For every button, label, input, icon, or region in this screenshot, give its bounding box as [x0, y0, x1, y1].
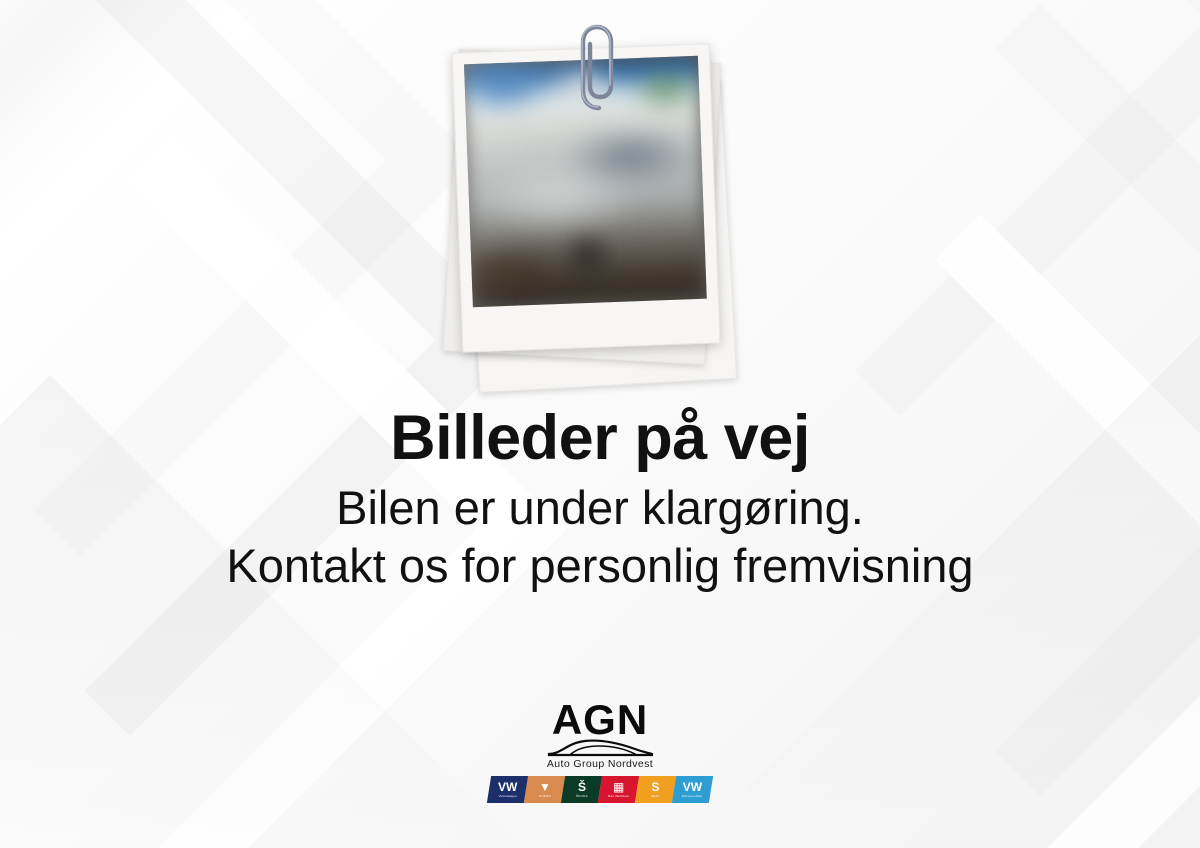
brand-mark-icon: VW: [683, 781, 702, 793]
brand-name-label: SEAT: [651, 795, 660, 798]
brand-badge-erhvervsbiler[interactable]: VWErhvervsbiler: [672, 776, 713, 803]
brand-name-label: CUPRA: [539, 795, 551, 798]
brand-badge-volkswagen[interactable]: VWVolkswagen: [487, 776, 528, 803]
polaroid-photo-stack: [435, 28, 765, 398]
brand-mark-icon: VW: [498, 781, 517, 793]
brand-name-label: Das WeltAuto: [608, 795, 629, 798]
brand-badge-cupra[interactable]: ▼CUPRA: [524, 776, 565, 803]
brand-mark-icon: Š: [577, 781, 585, 793]
message-block: Billeder på vej Bilen er under klargørin…: [0, 406, 1200, 593]
brand-name-label: Volkswagen: [498, 795, 517, 798]
logo-wordmark: AGN: [0, 700, 1200, 740]
brand-name-label: ŠKODA: [576, 795, 588, 798]
brand-mark-icon: S: [651, 781, 659, 793]
logo-tagline: Auto Group Nordvest: [0, 758, 1200, 770]
brand-badge-seat[interactable]: SSEAT: [635, 776, 676, 803]
brand-badge-strip: VWVolkswagen▼CUPRAŠŠKODA▦Das WeltAutoSSE…: [0, 776, 1200, 803]
placeholder-image-canvas: Billeder på vej Bilen er under klargørin…: [0, 0, 1200, 848]
brand-badge-das-weltauto[interactable]: ▦Das WeltAuto: [598, 776, 639, 803]
brand-name-label: Erhvervsbiler: [682, 795, 703, 798]
paperclip-icon: [576, 20, 622, 115]
headline: Billeder på vej: [0, 406, 1200, 470]
subline-primary: Bilen er under klargøring.: [0, 480, 1200, 535]
brand-mark-icon: ▼: [539, 781, 551, 793]
brand-badge--koda[interactable]: ŠŠKODA: [561, 776, 602, 803]
agn-logo: AGN Auto Group Nordvest: [0, 700, 1200, 770]
subline-secondary: Kontakt os for personlig fremvisning: [0, 538, 1200, 593]
brand-mark-icon: ▦: [613, 781, 624, 793]
